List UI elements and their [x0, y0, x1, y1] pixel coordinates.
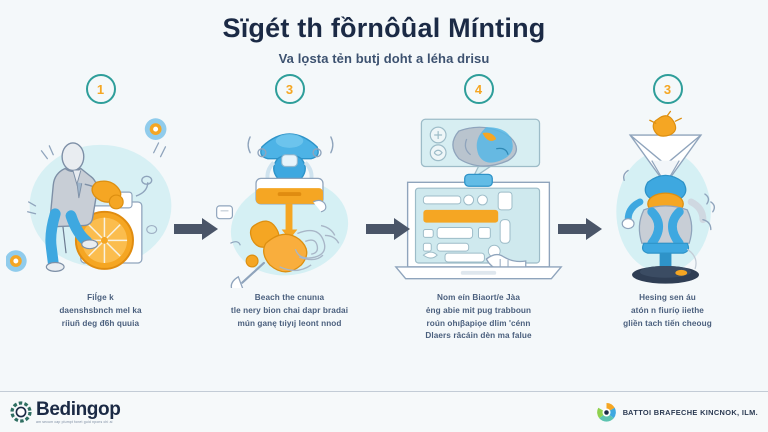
arrow-step-2-to-3: [366, 218, 410, 240]
header: Sïgét th fồrnôûal Mínting Va lọsta tẻn b…: [0, 0, 768, 66]
partner-logo-icon: [596, 402, 617, 423]
ring-logo-icon: [10, 401, 32, 423]
step-caption-3: Nom eín Biaort/e Jàa ẻng abie mit pug tr…: [415, 292, 541, 343]
step-badge-1: 1: [86, 74, 116, 104]
caption-line: atón n fiuríọ ỉiethe: [623, 305, 712, 318]
brand-name: Bedingop: [36, 400, 120, 419]
arrow-step-3-to-4: [558, 218, 602, 240]
step-badge-4: 3: [653, 74, 683, 104]
caption-line: Fiĺge k: [59, 292, 141, 305]
caption-line: ríiuñ deg đ6h quuia: [59, 318, 141, 331]
caption-line: roún ohıβapiọe dlim 'cénn: [425, 318, 531, 331]
step-number-4: 3: [664, 82, 671, 97]
deco-circle: [145, 119, 167, 141]
infographic-page: Sïgét th fồrnôûal Mínting Va lọsta tẻn b…: [0, 0, 768, 432]
partner-name: ВАТТОI BRAFECHE KINCNOK, ILM.: [623, 408, 758, 417]
step-illustration-laptop-form-with-speech-bubble: [384, 110, 573, 288]
step-illustration-figure-on-pedestal-with-envelope: [573, 110, 762, 288]
footer: Bedingop am secum cap plumpt fonet guid …: [0, 392, 768, 432]
step-badge-3: 4: [464, 74, 494, 104]
caption-line: daenshsbnch mel ka: [59, 305, 141, 318]
page-subtitle: Va lọsta tẻn butj doht a léha drisu: [0, 51, 768, 66]
caption-line: tle nery bion chai dapr bradai: [231, 305, 348, 318]
brand-text-block: Bedingop am secum cap plumpt fonet guid …: [36, 400, 120, 424]
steps-container: 1: [0, 66, 768, 391]
arrow-step-1-to-2: [174, 218, 218, 240]
caption-line: Dlaers râcáin dèn ma falue: [425, 330, 531, 343]
step-badge-2: 3: [275, 74, 305, 104]
step-caption-4: Hesing sen áu atón n fiuríọ ỉiethe gliền…: [613, 292, 722, 330]
step-number-1: 1: [97, 82, 104, 97]
step-number-3: 4: [475, 82, 482, 97]
step-2: 3: [195, 72, 384, 391]
partner-badge: ВАТТОI BRAFECHE KINCNOK, ILM.: [596, 402, 758, 423]
step-3: 4: [384, 72, 573, 391]
step-caption-1: Fiĺge k daenshsbnch mel ka ríiuñ deg đ6h…: [49, 292, 151, 330]
caption-line: Beach the cnunıa: [231, 292, 348, 305]
caption-line: Nom eín Biaort/e Jàa: [425, 292, 531, 305]
step-illustration-person-at-citrus-press-machine: [6, 110, 195, 288]
caption-line: Hesing sen áu: [623, 292, 712, 305]
brand-logo: Bedingop am secum cap plumpt fonet guid …: [10, 400, 120, 424]
page-title: Sïgét th fồrnôûal Mínting: [0, 14, 768, 42]
step-illustration-blue-dome-lamp-over-orange-figure: [195, 110, 384, 288]
caption-line: mún ganę tıiyıj leont nnod: [231, 318, 348, 331]
step-number-2: 3: [286, 82, 293, 97]
deco-circle: [6, 251, 27, 273]
brand-tagline: am secum cap plumpt fonet guid npons chi…: [36, 421, 120, 424]
caption-line: ẻng abie mit pug trabboun: [425, 305, 531, 318]
step-1: 1: [6, 72, 195, 391]
caption-line: gliền tach tiến cheoug: [623, 318, 712, 331]
step-caption-2: Beach the cnunıa tle nery bion chai dapr…: [221, 292, 358, 330]
